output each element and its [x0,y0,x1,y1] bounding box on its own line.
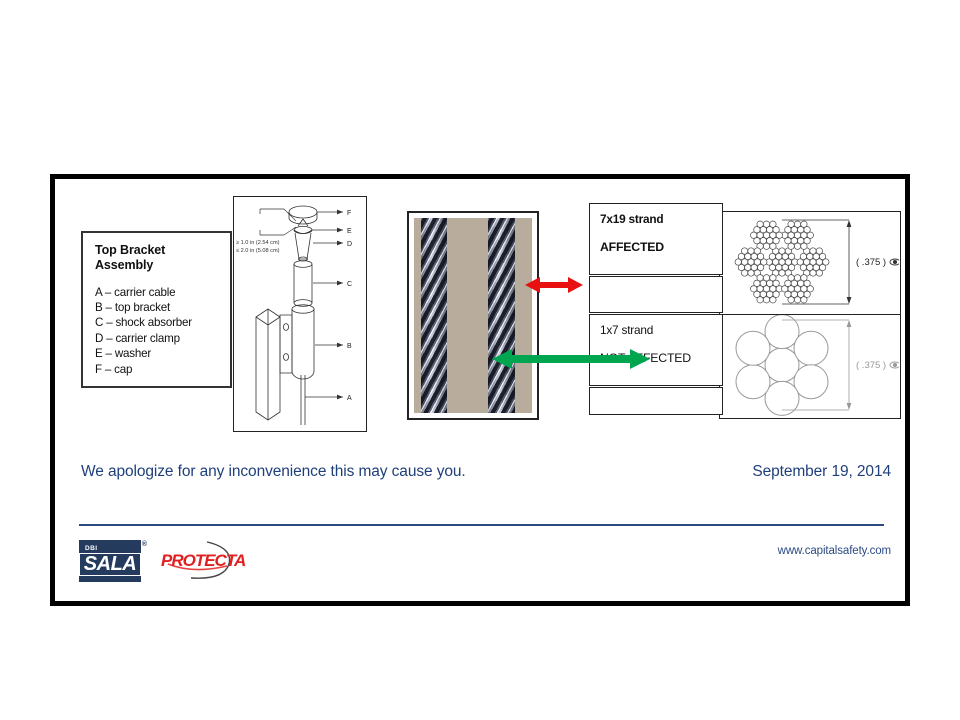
cable-photo-panel [407,211,539,420]
cable-photo-image [414,218,532,413]
legend-item-c: C – shock absorber [95,315,222,330]
drawing-dimension-max: ≤ 2.0 in (5.08 cm) [236,248,280,254]
protecta-logo-text: PROTECTA [161,551,245,571]
drawing-dimension-min: ≥ 1.0 in (2.54 cm) [236,240,280,246]
svg-text:F: F [347,210,351,217]
footer-divider-rule [79,524,884,526]
cross-section-1x7: ( .375 ) [720,315,900,418]
strand-1x7-label: 1x7 strand [600,323,722,337]
legend-item-e: E – washer [95,346,222,361]
dbi-sala-logo: DBI SALA ® [79,540,141,582]
svg-text:D: D [347,241,352,248]
cross-section-7x19: ( .375 ) [720,212,900,315]
legend-title: Top Bracket Assembly [95,243,222,273]
status-affected: AFFECTED [600,240,722,254]
website-url: www.capitalsafety.com [778,545,891,557]
cross-section-7x19-diameter: ( .375 ) [856,257,886,268]
slide-frame: Top Bracket Assembly A – carrier cable B… [50,174,910,606]
svg-text:B: B [347,343,352,350]
ellipsis-symbol-icon [890,259,899,265]
green-double-arrow-icon [492,346,650,372]
ellipsis-symbol-icon [890,362,899,368]
strand-7x19-label: 7x19 strand [600,212,722,226]
strand-cell-footer [589,387,723,415]
message-row: We apologize for any inconvenience this … [55,451,905,509]
sala-logo-text: SALA [79,553,141,576]
legend-item-d: D – carrier clamp [95,331,222,346]
cable-left-1x7 [421,218,447,413]
cable-right-7x19 [488,218,515,413]
svg-text:E: E [347,228,352,235]
cross-section-7x19-svg: ( .375 ) [720,212,899,313]
protecta-logo: PROTECTA [157,538,245,584]
apology-message: We apologize for any inconvenience this … [81,463,466,481]
strand-cross-section-panel: ( .375 ) [719,211,901,419]
strand-label-column: 7x19 strand AFFECTED 1x7 strand NOT AFFE… [589,203,723,415]
legend-item-f: F – cap [95,362,222,377]
top-bracket-assembly-legend: Top Bracket Assembly A – carrier cable B… [81,231,232,388]
strand-cell-7x19: 7x19 strand AFFECTED [589,203,723,275]
dbi-logo-text: DBI [85,546,97,553]
notice-date: September 19, 2014 [752,463,891,481]
footer-logos: DBI SALA ® PROTECTA [79,535,245,587]
cross-section-1x7-diameter: ( .375 ) [856,360,886,371]
legend-item-a: A – carrier cable [95,285,222,300]
cross-section-1x7-svg: ( .375 ) [720,315,899,416]
svg-text:A: A [347,395,352,402]
strand-cell-divider [589,276,723,313]
top-bracket-technical-drawing-panel: F E D C B A ≥ 1.0 in (2.54 cm) ≤ 2.0 in … [233,196,367,432]
registered-trademark-icon: ® [142,541,147,548]
svg-text:C: C [347,281,352,288]
legend-item-b: B – top bracket [95,300,222,315]
content-band: Top Bracket Assembly A – carrier cable B… [55,179,905,451]
top-bracket-drawing-svg: F E D C B A ≥ 1.0 in (2.54 cm) ≤ 2.0 in … [234,197,365,430]
red-double-arrow-icon [525,274,583,296]
